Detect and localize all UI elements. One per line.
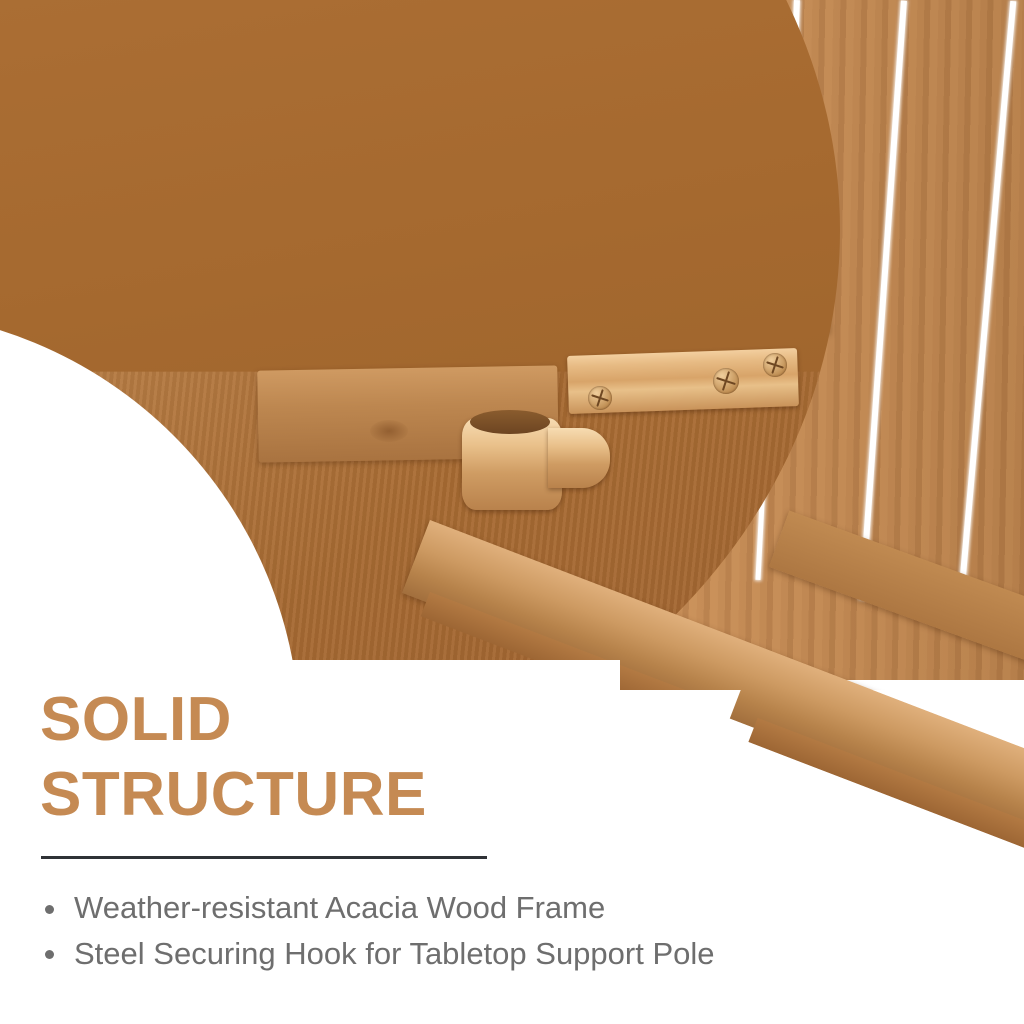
bullet-icon: [45, 905, 54, 914]
product-feature-banner: SOLID STRUCTURE Weather-resistant Acacia…: [0, 0, 1024, 1024]
list-item: Steel Securing Hook for Tabletop Support…: [40, 931, 984, 976]
wood-knot: [370, 420, 408, 442]
headline-line-2: STRUCTURE: [40, 763, 984, 826]
text-content-block: SOLID STRUCTURE Weather-resistant Acacia…: [40, 688, 984, 976]
bracket-screw: [763, 353, 787, 377]
feature-list: Weather-resistant Acacia Wood Frame Stee…: [40, 885, 984, 976]
hook-ring-inner-shadow: [470, 410, 550, 434]
headline-line-1: SOLID: [40, 685, 232, 754]
bracket-screw: [713, 368, 739, 394]
page-title: SOLID STRUCTURE: [40, 688, 984, 826]
feature-text: Steel Securing Hook for Tabletop Support…: [74, 936, 715, 971]
bracket-screw: [588, 386, 612, 410]
list-item: Weather-resistant Acacia Wood Frame: [40, 885, 984, 930]
feature-text: Weather-resistant Acacia Wood Frame: [74, 890, 605, 925]
steel-securing-hook-tab: [548, 428, 610, 488]
bullet-icon: [45, 950, 54, 959]
divider-rule: [41, 856, 487, 859]
